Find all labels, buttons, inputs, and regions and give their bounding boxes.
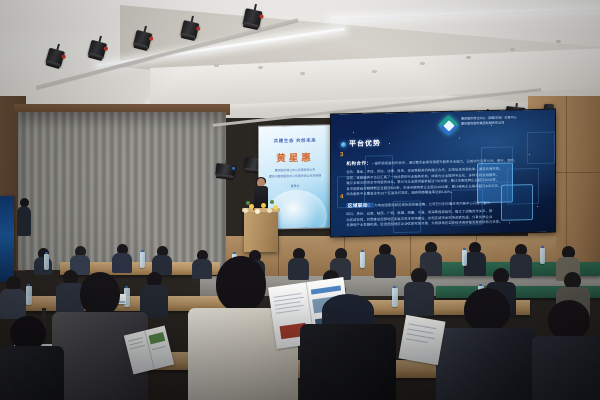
right-led-screen: 重庆股份转让中心（四板市场）交易中心 重庆股权服务集团有限责任公司 平台优势 3… xyxy=(331,110,555,237)
left-screen-subtitle-1: 重庆股份转让中心有限责任公司 xyxy=(266,167,324,173)
audience-member xyxy=(112,244,132,272)
brochure-icon xyxy=(398,315,445,365)
audience-member xyxy=(152,246,172,274)
diamond-logo-icon xyxy=(439,116,459,136)
audience-member xyxy=(404,268,434,314)
audience-member-foreground xyxy=(300,294,396,400)
audience-member xyxy=(374,244,396,276)
water-bottle-icon xyxy=(540,248,545,264)
item-line: 一直积极拓展机构合作，通过整合全类资源提升服务专业能力，已成功与证券公司、银行、… xyxy=(371,158,517,165)
downlight-icon xyxy=(214,64,219,67)
blue-dot-icon xyxy=(341,142,346,147)
left-screen-title: 共建生态 共创未来 xyxy=(259,137,331,144)
conference-hall-screenshot: 共建生态 共创未来 黄星惠 重庆股份转让中心有限责任公司 重庆市股权服务中心有限… xyxy=(0,0,600,400)
blue-standing-banner xyxy=(0,196,14,282)
truss-light-icon xyxy=(215,159,236,178)
item-number: 4 xyxy=(340,194,343,229)
water-bottle-icon xyxy=(26,286,32,305)
standing-staff-member xyxy=(16,198,32,236)
slide-list-item: 4 区域联动：为响应国家西部区域协调发展战略，公司已分别与重庆市内各中心开展了重… xyxy=(340,190,532,229)
item-number: 3 xyxy=(340,152,343,198)
slide-header-text: 平台优势 xyxy=(349,138,381,149)
audience-member xyxy=(0,276,26,316)
water-bottle-icon xyxy=(360,252,365,268)
downlight-icon xyxy=(556,40,561,43)
audience-member-foreground xyxy=(436,288,536,400)
downlight-icon xyxy=(466,56,471,59)
left-screen-speaker-name: 黄星惠 xyxy=(259,149,331,164)
water-bottle-icon xyxy=(462,250,467,266)
downlight-icon xyxy=(300,72,305,75)
water-bottle-icon xyxy=(44,254,49,270)
slide-section-header: 平台优势 xyxy=(341,138,381,149)
left-screen-subtitle-2: 重庆市股权服务中心有限责任公司总经理 xyxy=(266,173,324,179)
item-keyword: 机构合作： xyxy=(346,161,371,167)
downlight-icon xyxy=(372,70,377,73)
downlight-icon xyxy=(258,66,263,69)
audience-member xyxy=(464,242,486,274)
water-bottle-icon xyxy=(140,252,145,268)
item-keyword: 区域联动： xyxy=(346,202,374,208)
left-screen-subtitle-3: 董事长 xyxy=(259,183,331,188)
downlight-icon xyxy=(510,48,515,51)
item-line: 为响应国家西部区域协调发展战略，公司已分别与重庆市内各中心开展了重庆、 xyxy=(374,201,493,208)
audience-member-foreground xyxy=(0,316,64,400)
downlight-icon xyxy=(420,62,425,65)
audience-member xyxy=(34,248,52,274)
organization-name: 重庆股份转让中心（四板市场）交易中心 重庆股权服务集团有限责任公司 xyxy=(461,115,545,126)
audience-member-foreground xyxy=(532,300,600,400)
flower-arrangement xyxy=(241,200,281,218)
